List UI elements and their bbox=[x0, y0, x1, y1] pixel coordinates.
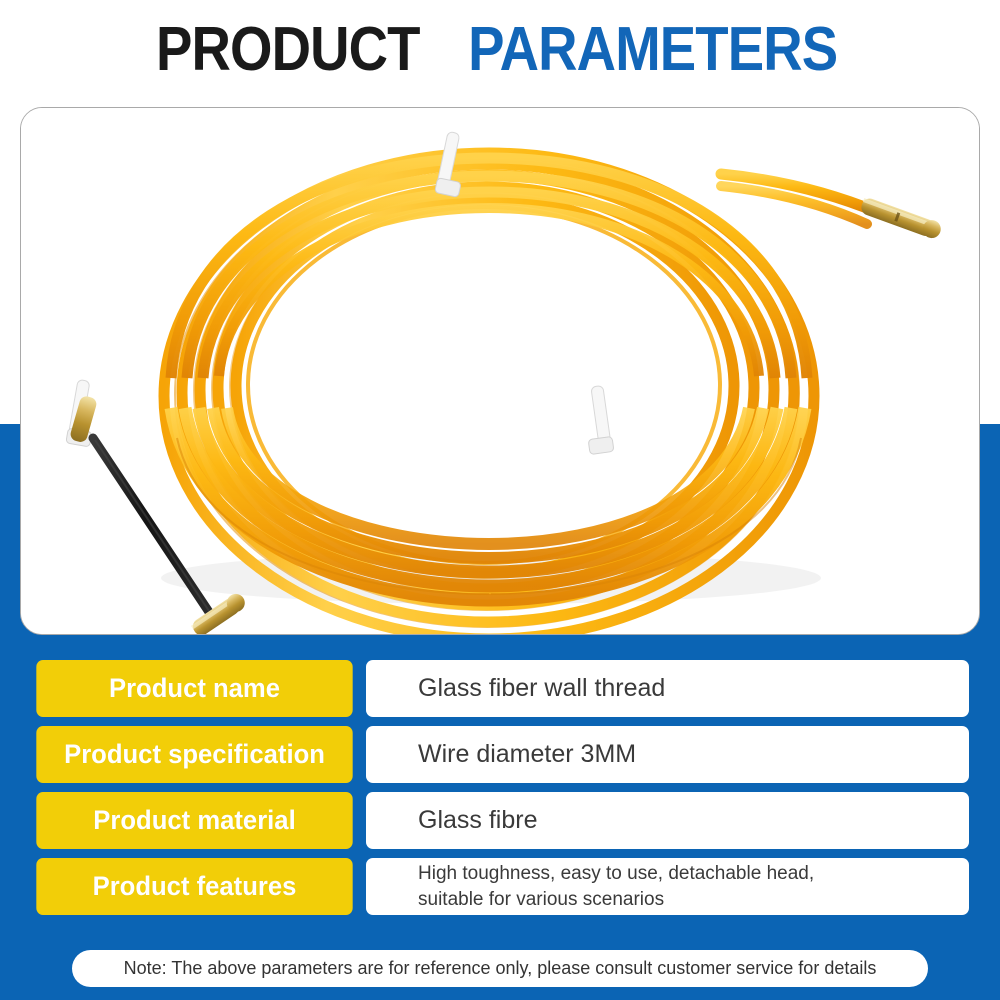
param-value-product-specification: Wire diameter 3MM bbox=[366, 726, 969, 783]
title-word-parameters: PARAMETERS bbox=[468, 19, 837, 81]
param-value-product-material: Glass fibre bbox=[366, 792, 969, 849]
cable-coil-top-arcs bbox=[171, 158, 807, 378]
page-title: PRODUCT PARAMETERS bbox=[0, 0, 1000, 100]
param-label-product-specification: Product specification bbox=[36, 726, 352, 783]
param-value-product-name: Glass fiber wall thread bbox=[366, 660, 969, 717]
param-label-product-material: Product material bbox=[36, 792, 352, 849]
param-value-line: suitable for various scenarios bbox=[418, 887, 814, 912]
note-banner: Note: The above parameters are for refer… bbox=[72, 950, 928, 987]
title-word-product: PRODUCT bbox=[155, 19, 419, 81]
product-photo bbox=[21, 108, 979, 634]
table-row: Product name Glass fiber wall thread bbox=[0, 660, 1000, 717]
product-photo-card bbox=[20, 107, 980, 635]
brass-tip-upper-right bbox=[859, 195, 943, 240]
cable-coil-illustration bbox=[21, 108, 979, 634]
table-row: Product features High toughness, easy to… bbox=[0, 858, 1000, 915]
table-row: Product specification Wire diameter 3MM bbox=[0, 726, 1000, 783]
param-label-product-name: Product name bbox=[36, 660, 352, 717]
cable-free-end-upper-right bbox=[721, 174, 877, 224]
table-row: Product material Glass fibre bbox=[0, 792, 1000, 849]
param-label-product-features: Product features bbox=[36, 858, 352, 915]
param-value-line: High toughness, easy to use, detachable … bbox=[418, 861, 814, 886]
param-value-product-features: High toughness, easy to use, detachable … bbox=[366, 858, 969, 915]
parameters-table: Product name Glass fiber wall thread Pro… bbox=[0, 660, 1000, 924]
zip-tie-right bbox=[588, 385, 614, 454]
